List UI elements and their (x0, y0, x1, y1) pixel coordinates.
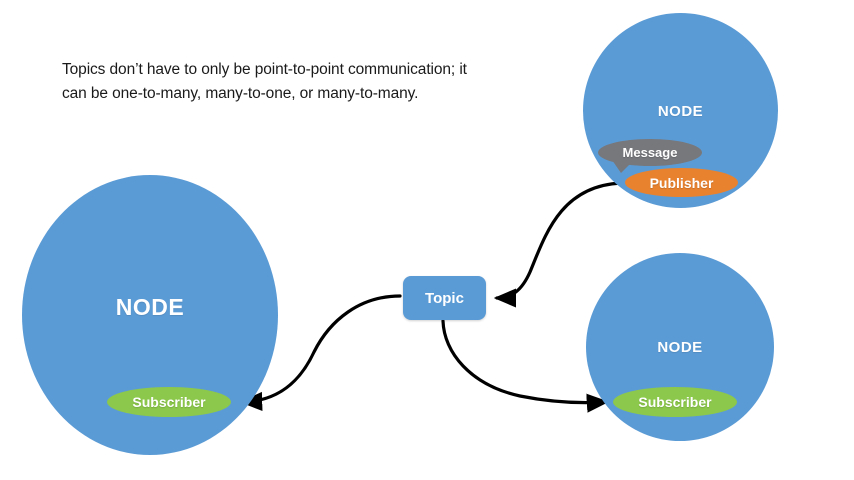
subscriber-left[interactable]: Subscriber (107, 387, 231, 417)
publisher-top-right[interactable]: Publisher (625, 168, 738, 197)
message-bubble[interactable]: Message (598, 139, 702, 166)
node-left-label: NODE (22, 294, 278, 321)
subscriber-bottom-right[interactable]: Subscriber (613, 387, 737, 417)
node-top-right-label: NODE (583, 103, 778, 120)
slide-canvas: Topics don’t have to only be point-to-po… (0, 0, 854, 480)
topic-box[interactable]: Topic (403, 276, 486, 320)
arrow-publisher-to-topic (497, 183, 621, 298)
node-bottom-right-label: NODE (586, 339, 774, 356)
arrow-topic-to-bottom-right-subscriber (443, 321, 606, 403)
